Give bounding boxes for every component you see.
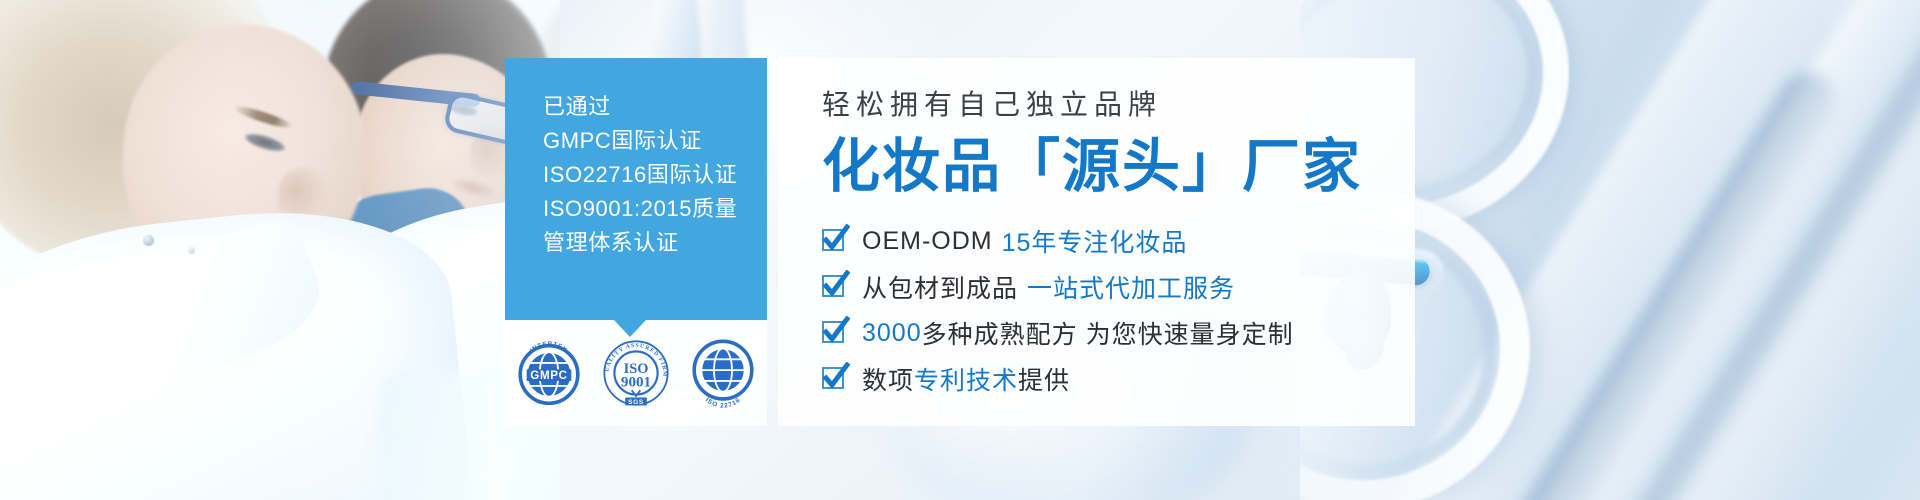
svg-text:GMPC: GMPC [530,370,567,382]
bullet-blue-3: 3000 [862,319,922,348]
checkbox-checked-icon [822,228,848,254]
list-item: OEM-ODM 15年专注化妆品 [822,218,1415,264]
cert-line-0: 已通过 [543,90,753,124]
panel-pointer-arrow [614,320,646,337]
list-item: 数项 专利技术 提供 [822,356,1415,402]
promo-content-panel: 轻松拥有自己独立品牌 化妆品「源头」厂家 OEM-ODM 15年专注化妆品 [778,58,1415,426]
checkbox-checked-icon [822,320,848,346]
bullet-dark-4b: 提供 [1018,361,1070,397]
feature-list: OEM-ODM 15年专注化妆品 从包材到成品 一站式代加工服务 [822,218,1415,402]
certification-panel: 已通过 GMPC国际认证 ISO22716国际认证 ISO9001:2015质量… [505,58,767,320]
svg-text:9001: 9001 [621,375,651,391]
cert-line-1: GMPC国际认证 [543,124,753,158]
certification-text-block: 已通过 GMPC国际认证 ISO22716国际认证 ISO9001:2015质量… [543,90,753,260]
list-item: 从包材到成品 一站式代加工服务 [822,264,1415,310]
svg-text:SGS: SGS [628,399,644,406]
bullet-blue-4: 专利技术 [914,361,1018,397]
checkbox-checked-icon [822,366,848,392]
bullet-dark-3b: 多种成熟配方 为您快速量身定制 [922,315,1294,351]
eyebrow-text: 轻松拥有自己独立品牌 [822,88,1415,122]
iso-22716-logo: ISO 22716 [687,337,759,409]
promo-banner: 已通过 GMPC国际认证 ISO22716国际认证 ISO9001:2015质量… [0,0,1920,500]
bullet-dark-4: 数项 [862,361,914,397]
bullet-dark-2: 从包材到成品 [862,269,1018,305]
cert-line-2: ISO22716国际认证 [543,158,753,192]
cert-line-4: 管理体系认证 [543,226,753,260]
list-item: 3000 多种成熟配方 为您快速量身定制 [822,310,1415,356]
cert-line-3: ISO9001:2015质量 [543,192,753,226]
bullet-dark-1: OEM-ODM [862,227,993,256]
bullet-blue-2: 一站式代加工服务 [1027,269,1235,305]
checkbox-checked-icon [822,274,848,300]
headline-text: 化妆品「源头」厂家 [822,134,1415,201]
bullet-blue-1: 15年专注化妆品 [1002,223,1188,259]
iso-9001-sgs-logo: QUALITY ASSURED FIRM ISO 9001 SGS [600,337,672,409]
intertek-gmpc-logo: GMPC INTERTEK [513,337,585,409]
